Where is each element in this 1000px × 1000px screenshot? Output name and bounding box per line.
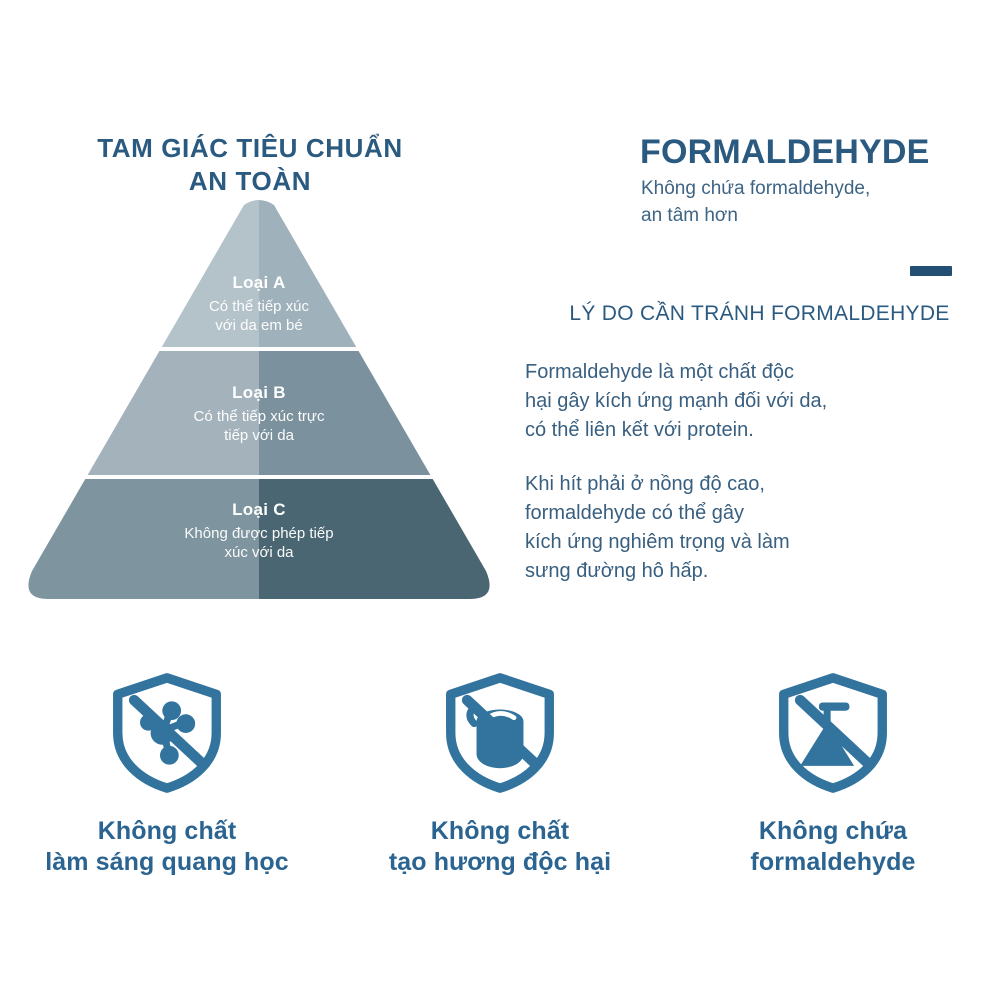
reason-paragraph-2: Khi hít phải ở nồng độ cao, formaldehyde… [525,470,945,586]
badge-caption-3: Không chứa formaldehyde [750,816,915,878]
pyramid-section: TAM GIÁC TIÊU CHUẨN AN TOÀN Loại A [0,0,500,660]
badge-caption-1: Không chất làm sáng quang học [45,816,289,878]
shield-no-flask-icon [773,672,893,794]
badge-no-toxic-fragrance: Không chất tạo hương độc hại [334,672,667,878]
formaldehyde-info-section: FORMALDEHYDE Không chứa formaldehyde, an… [525,0,1000,660]
shield-no-molecule-icon [107,672,227,794]
tier-a-right-face [259,195,498,347]
tier-c-right-face [259,479,498,615]
feature-badges-row: Không chất làm sáng quang học Không chất… [0,672,1000,912]
shield-no-fragrance-icon [440,672,560,794]
reason-paragraph-1: Formaldehyde là một chất độc hại gây kíc… [525,358,945,445]
pyramid-svg [20,195,498,615]
tier-b-left-face [20,351,259,475]
badge-no-formaldehyde: Không chứa formaldehyde [667,672,1000,878]
badge-caption-2: Không chất tạo hương độc hại [389,816,611,878]
tier-a-left-face [20,195,259,347]
safety-pyramid-diagram: Loại A Có thể tiếp xúc với da em bé Loại… [20,195,498,615]
tier-c-left-face [20,479,259,615]
pyramid-tiers [20,195,498,615]
reason-heading: LÝ DO CẦN TRÁNH FORMALDEHYDE [522,302,997,326]
formaldehyde-heading: FORMALDEHYDE [640,133,930,172]
badge-no-optical-brightener: Không chất làm sáng quang học [1,672,334,878]
formaldehyde-subheading: Không chứa formaldehyde, an tâm hơn [641,176,1000,230]
dash-accent-icon [910,266,952,276]
pyramid-title: TAM GIÁC TIÊU CHUẨN AN TOÀN [0,132,500,199]
tier-b-right-face [259,351,498,475]
